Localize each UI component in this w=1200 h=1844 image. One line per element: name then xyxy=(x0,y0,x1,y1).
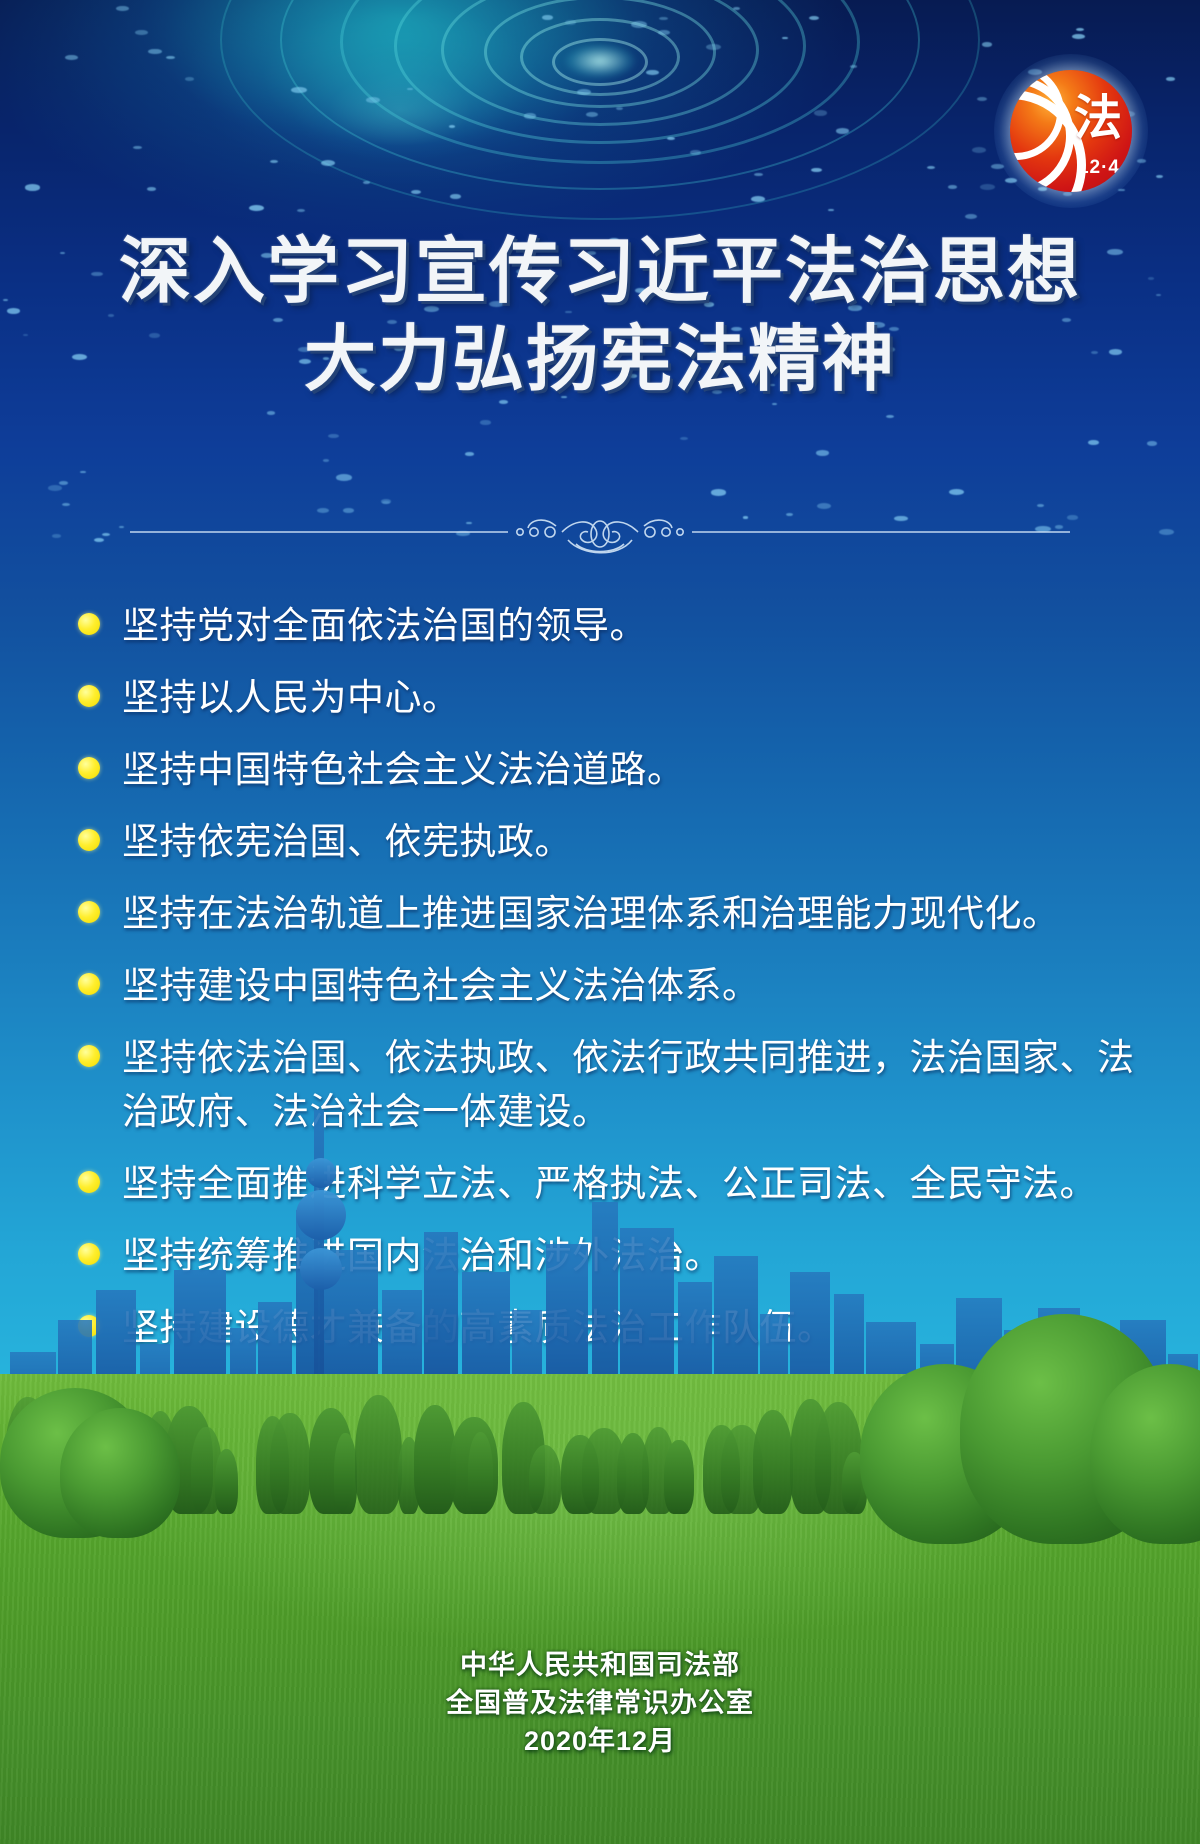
star-dot xyxy=(25,184,40,190)
star-dot xyxy=(965,214,977,219)
star-dot xyxy=(328,434,339,439)
bullet-dot-icon xyxy=(78,973,100,995)
star-dot xyxy=(828,209,834,211)
star-dot xyxy=(1088,440,1100,445)
star-dot xyxy=(166,56,175,60)
constitution-day-logo: 法 12·4 xyxy=(1010,70,1132,192)
tree xyxy=(355,1395,402,1514)
star-dot xyxy=(366,97,380,103)
star-dot xyxy=(751,196,765,202)
title-line-1: 深入学习宣传习近平法治思想 xyxy=(0,228,1200,316)
pearl-tower-sphere xyxy=(306,1158,336,1188)
star-dot xyxy=(667,137,675,140)
tree xyxy=(215,1449,238,1514)
principle-text: 坚持党对全面依法治国的领导。 xyxy=(122,600,647,654)
star-dot xyxy=(811,168,821,172)
principle-item: 坚持在法治轨道上推进国家治理体系和治理能力现代化。 xyxy=(78,888,1148,942)
poster-footer: 中华人民共和国司法部 全国普及法律常识办公室 2020年12月 xyxy=(0,1646,1200,1760)
logo-date-text: 12·4 xyxy=(1078,157,1120,179)
star-dot xyxy=(382,501,389,504)
logo-circle: 法 12·4 xyxy=(1010,70,1132,192)
star-dot xyxy=(185,77,195,81)
star-dot xyxy=(977,97,988,101)
foreground-tree xyxy=(60,1408,180,1538)
poster-title: 深入学习宣传习近平法治思想 大力弘扬宪法精神 xyxy=(0,228,1200,404)
star-dot xyxy=(658,30,669,35)
star-dot xyxy=(480,420,490,424)
star-dot xyxy=(565,20,576,25)
star-dot xyxy=(982,42,992,46)
star-dot xyxy=(1072,34,1085,40)
footer-office: 全国普及法律常识办公室 xyxy=(0,1684,1200,1722)
star-dot xyxy=(59,481,68,485)
star-dot xyxy=(586,112,598,117)
star-dot xyxy=(690,150,701,155)
star-dot xyxy=(542,15,553,20)
principle-item: 坚持中国特色社会主义法治道路。 xyxy=(78,744,1148,798)
star-dot xyxy=(659,17,667,21)
star-dot xyxy=(116,6,129,11)
star-dot xyxy=(706,44,722,51)
star-dot xyxy=(616,107,624,110)
star-dot xyxy=(1166,77,1174,81)
bullet-dot-icon xyxy=(78,829,100,851)
star-dot xyxy=(267,411,275,415)
star-dot xyxy=(680,437,688,440)
tree xyxy=(753,1410,793,1514)
star-dot xyxy=(524,113,536,118)
star-dot xyxy=(949,489,964,495)
star-dot xyxy=(465,452,474,456)
star-dot xyxy=(886,415,894,418)
star-dot xyxy=(363,181,370,184)
ornamental-divider xyxy=(0,510,1200,570)
star-dot xyxy=(1147,441,1157,445)
star-dot xyxy=(754,173,763,177)
star-dot xyxy=(836,128,849,133)
star-dot xyxy=(249,205,264,211)
star-dot xyxy=(48,485,62,491)
bullet-dot-icon xyxy=(78,901,100,923)
star-dot xyxy=(450,194,461,199)
star-dot xyxy=(927,166,934,169)
principle-text: 坚持依宪治国、依宪执政。 xyxy=(122,816,572,870)
star-dot xyxy=(407,88,412,90)
principle-text: 坚持以人民为中心。 xyxy=(122,672,460,726)
principle-text: 坚持在法治轨道上推进国家治理体系和治理能力现代化。 xyxy=(122,888,1060,942)
principle-item: 坚持建设中国特色社会主义法治体系。 xyxy=(78,960,1148,1014)
star-dot xyxy=(817,503,831,509)
principle-item: 坚持依宪治国、依宪执政。 xyxy=(78,816,1148,870)
star-dot xyxy=(449,125,455,128)
star-dot xyxy=(809,16,819,20)
poster-canvas: 法 12·4 深入学习宣传习近平法治思想 大力弘扬宪法精神 xyxy=(0,0,1200,1844)
star-dot xyxy=(297,209,305,212)
star-dot xyxy=(631,21,647,28)
star-dot xyxy=(1156,175,1163,178)
star-dot xyxy=(148,49,162,55)
principle-item: 坚持以人民为中心。 xyxy=(78,672,1148,726)
star-dot xyxy=(1076,28,1084,31)
bullet-dot-icon xyxy=(78,685,100,707)
star-dot xyxy=(147,187,156,191)
pearl-tower-sphere xyxy=(296,1190,346,1240)
tree xyxy=(664,1440,693,1514)
star-dot xyxy=(733,7,740,10)
star-dot xyxy=(1037,504,1045,507)
tree-line xyxy=(0,1344,1200,1514)
star-dot xyxy=(323,459,330,462)
tree xyxy=(468,1432,494,1514)
footer-date: 2020年12月 xyxy=(0,1722,1200,1760)
pearl-tower-sphere xyxy=(300,1248,342,1290)
star-dot xyxy=(814,110,827,116)
star-dot xyxy=(711,489,726,495)
title-line-2: 大力弘扬宪法精神 xyxy=(0,316,1200,404)
star-dot xyxy=(133,146,142,150)
principle-text: 坚持中国特色社会主义法治道路。 xyxy=(122,744,685,798)
tree xyxy=(334,1433,357,1514)
principle-text: 坚持建设中国特色社会主义法治体系。 xyxy=(122,960,760,1014)
star-dot xyxy=(291,87,306,93)
star-dot xyxy=(577,89,591,95)
tree xyxy=(270,1413,309,1514)
star-dot xyxy=(948,185,957,189)
star-dot xyxy=(972,147,986,153)
star-dot xyxy=(782,37,787,39)
principle-item: 坚持党对全面依法治国的领导。 xyxy=(78,600,1148,654)
star-dot xyxy=(980,184,995,190)
logo-fa-character: 法 xyxy=(1074,96,1122,142)
star-dot xyxy=(816,450,830,456)
divider-flourish-icon xyxy=(90,510,1110,566)
star-dot xyxy=(411,190,421,194)
star-dot xyxy=(646,70,659,75)
star-dot xyxy=(321,160,335,166)
star-dot xyxy=(65,55,78,60)
star-dot xyxy=(135,30,148,35)
star-dot xyxy=(850,65,856,68)
star-dot xyxy=(80,471,86,473)
bullet-dot-icon xyxy=(78,1045,100,1067)
footer-ministry: 中华人民共和国司法部 xyxy=(0,1646,1200,1684)
bullet-dot-icon xyxy=(78,613,100,635)
star-dot xyxy=(62,503,69,506)
bullet-dot-icon xyxy=(78,757,100,779)
star-dot xyxy=(270,160,278,163)
star-dot xyxy=(336,474,352,481)
tree xyxy=(529,1445,562,1514)
